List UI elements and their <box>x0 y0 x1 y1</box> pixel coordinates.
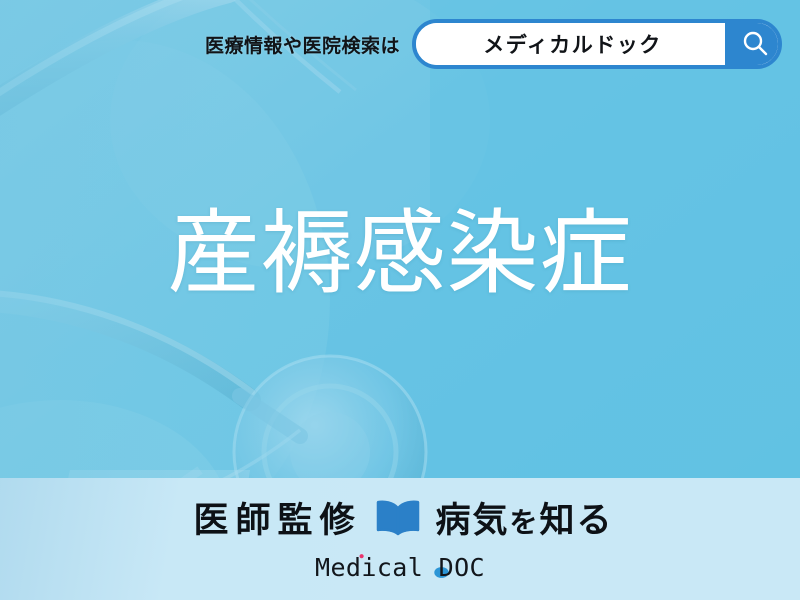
hero-banner: 医療情報や医院検索は 産褥感染症 医師監修 <box>0 0 800 600</box>
search-box[interactable] <box>412 19 782 69</box>
search-input[interactable] <box>416 23 725 65</box>
supervised-by-doctor-label: 医師監修 <box>186 492 361 543</box>
open-book-icon <box>375 499 421 537</box>
tagline-word-illness: 病気 <box>435 501 509 541</box>
page-title: 産褥感染症 <box>0 206 800 303</box>
search-bar: 医療情報や医院検索は <box>0 0 800 88</box>
tagline-particle-wo: を <box>510 506 540 539</box>
tagline-word-know: 知る <box>540 501 614 541</box>
logo-accent-dot <box>360 554 364 558</box>
search-submit-button[interactable] <box>725 23 782 65</box>
medical-doc-logo[interactable]: Medical DOC <box>0 550 800 584</box>
footer-tagline: 医師監修 病気を知る <box>0 492 800 543</box>
search-lead-text: 医療情報や医院検索は <box>205 31 400 58</box>
search-icon <box>740 28 770 61</box>
footer-bar: 医師監修 病気を知る Medical DOC <box>0 478 800 600</box>
know-your-illness-label: 病気を知る <box>435 492 613 543</box>
logo-wordmark: Medical DOC <box>315 553 485 582</box>
